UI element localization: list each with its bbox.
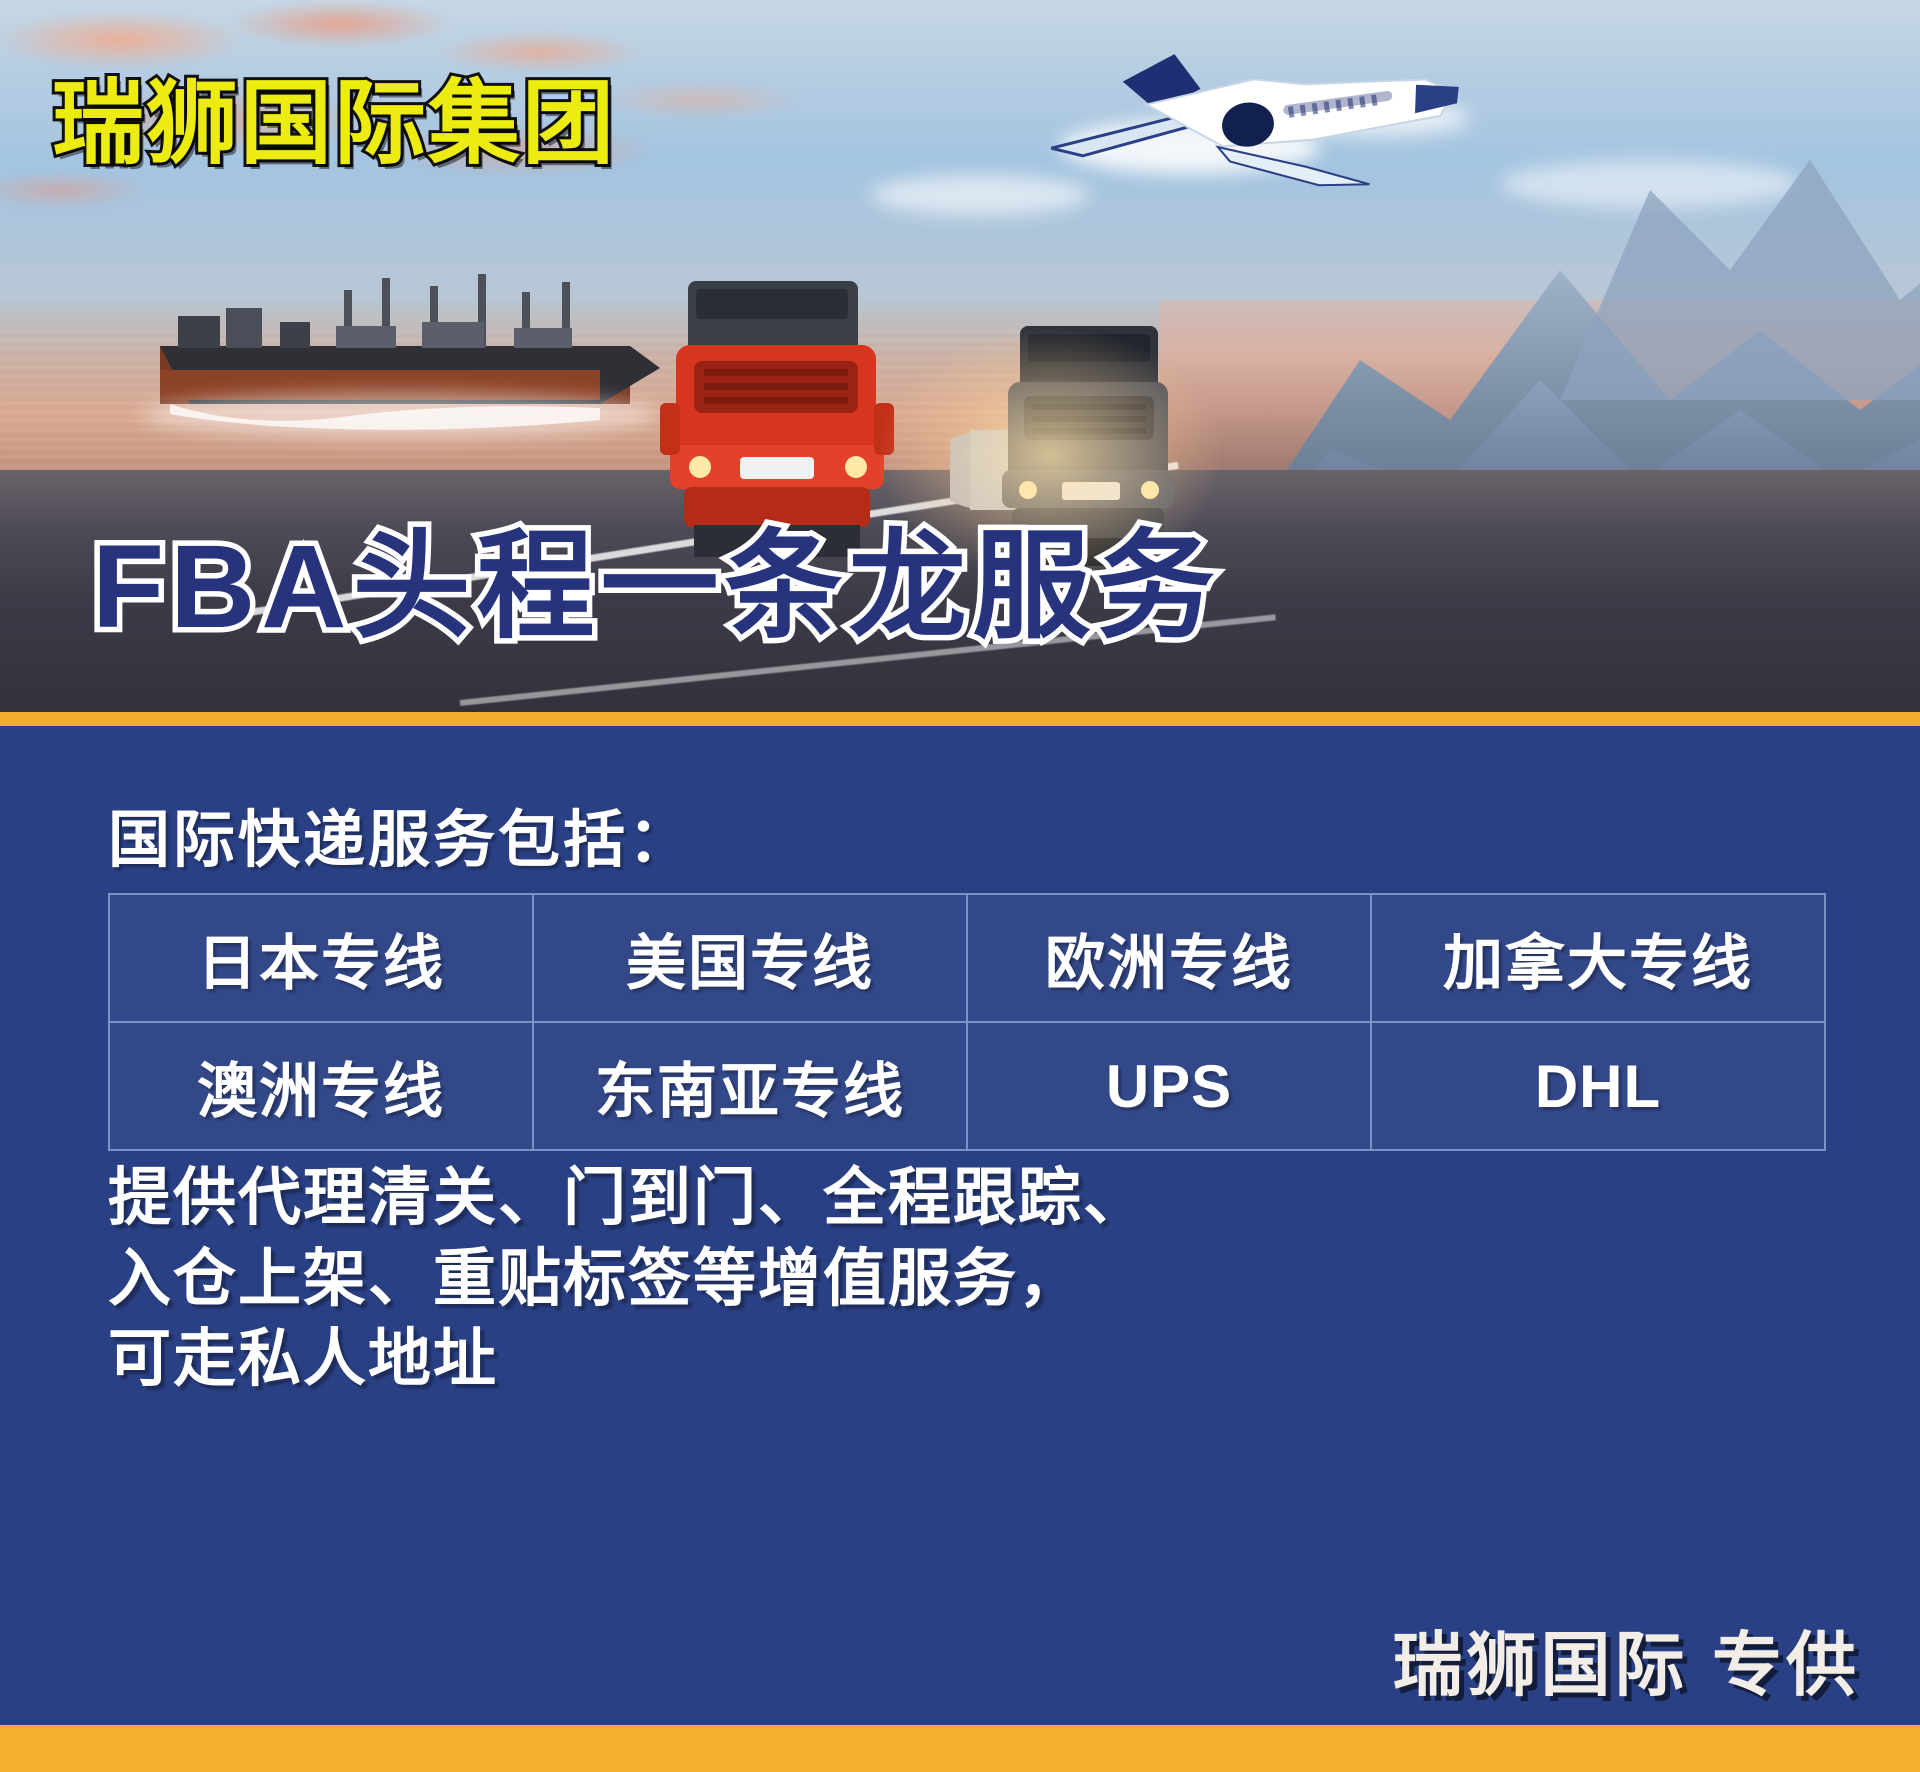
accent-divider-bottom	[0, 1725, 1920, 1772]
info-panel: 国际快递服务包括： 日本专线 美国专线 欧洲专线 加拿大专线 澳洲专线 东南亚专…	[0, 726, 1920, 1725]
table-cell-canada-line[interactable]: 加拿大专线	[1371, 894, 1825, 1022]
description-line-1: 提供代理清关、门到门、全程跟踪、	[108, 1158, 1148, 1239]
table-cell-dhl[interactable]: DHL	[1371, 1022, 1825, 1150]
company-logo-text: 瑞狮国际集团	[52, 78, 616, 170]
airplane-icon	[1010, 25, 1480, 225]
hero-banner: 瑞狮国际集团 FBA头程一条龙服务	[0, 0, 1920, 714]
services-description: 提供代理清关、门到门、全程跟踪、 入仓上架、重贴标签等增值服务， 可走私人地址	[108, 1158, 1148, 1400]
table-cell-ups[interactable]: UPS	[967, 1022, 1371, 1150]
ship-wake-spray	[140, 392, 660, 438]
table-cell-europe-line[interactable]: 欧洲专线	[967, 894, 1371, 1022]
service-lanes-table: 日本专线 美国专线 欧洲专线 加拿大专线 澳洲专线 东南亚专线 UPS DHL	[108, 893, 1826, 1151]
table-cell-australia-line[interactable]: 澳洲专线	[109, 1022, 533, 1150]
description-line-3: 可走私人地址	[108, 1319, 1148, 1400]
table-cell-japan-line[interactable]: 日本专线	[109, 894, 533, 1022]
footer-brand-text: 瑞狮国际 专供	[1393, 1609, 1860, 1710]
page-title: FBA头程一条龙服务	[92, 528, 1221, 646]
accent-divider-top	[0, 712, 1920, 726]
table-cell-usa-line[interactable]: 美国专线	[533, 894, 967, 1022]
poster-root: 瑞狮国际集团 FBA头程一条龙服务 国际快递服务包括： 日本专线 美国专线 欧洲…	[0, 0, 1920, 1772]
description-line-2: 入仓上架、重贴标签等增值服务，	[108, 1239, 1148, 1320]
table-row: 澳洲专线 东南亚专线 UPS DHL	[109, 1022, 1825, 1150]
section-heading: 国际快递服务包括：	[108, 789, 693, 879]
table-row: 日本专线 美国专线 欧洲专线 加拿大专线	[109, 894, 1825, 1022]
table-cell-southeast-asia-line[interactable]: 东南亚专线	[533, 1022, 967, 1150]
mountain-icon	[1560, 100, 1920, 400]
